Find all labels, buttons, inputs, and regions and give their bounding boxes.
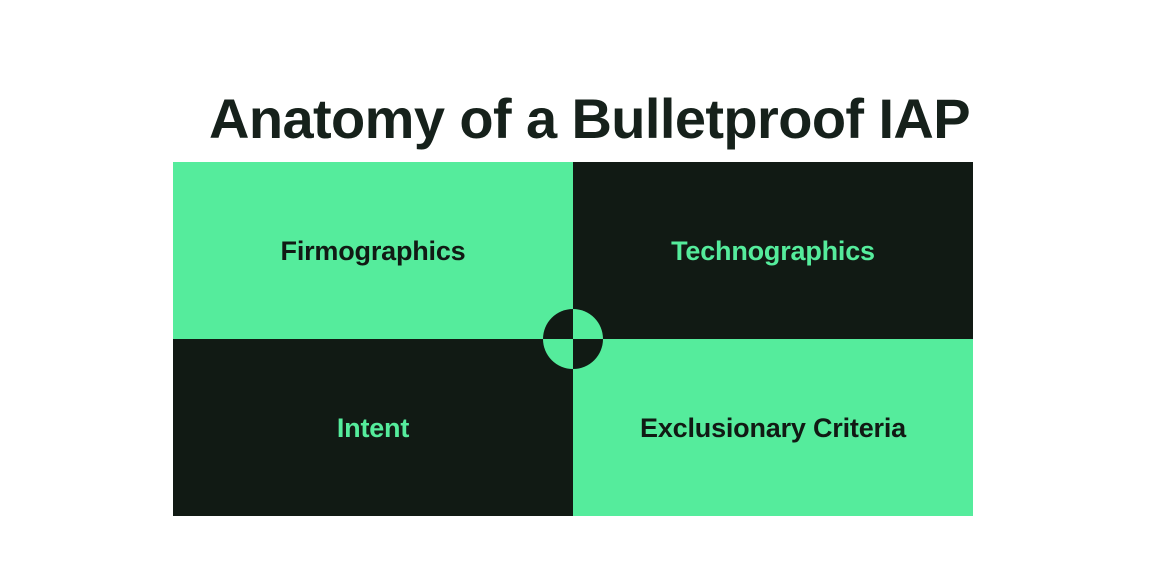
quadrant-firmographics[interactable]: Firmographics bbox=[173, 162, 573, 339]
page-title: Anatomy of a Bulletproof IAP bbox=[9, 85, 1161, 153]
quadrant-intent[interactable]: Intent bbox=[173, 339, 573, 516]
quadrant-technographics[interactable]: Technographics bbox=[573, 162, 973, 339]
quadrant-label-exclusionary-criteria: Exclusionary Criteria bbox=[640, 411, 906, 445]
quadrant-label-firmographics: Firmographics bbox=[281, 234, 466, 268]
page-root: Anatomy of a Bulletproof IAP Firmographi… bbox=[0, 0, 1161, 577]
quadrant-label-intent: Intent bbox=[337, 411, 409, 445]
quadrant-matrix: Firmographics Technographics Intent Excl… bbox=[173, 162, 973, 516]
quadrant-exclusionary-criteria[interactable]: Exclusionary Criteria bbox=[573, 339, 973, 516]
quadrant-label-technographics: Technographics bbox=[671, 234, 875, 268]
